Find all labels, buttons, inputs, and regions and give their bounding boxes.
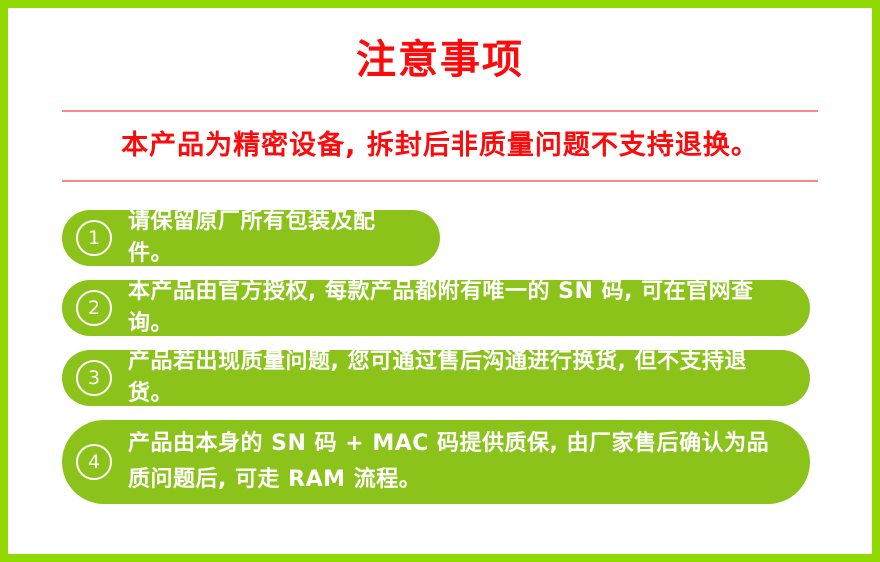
notice-text-3: 产品若出现质量问题, 您可通过售后沟通进行换货, 但不支持退货。 bbox=[128, 346, 788, 410]
notice-item-4: 4 产品由本身的 SN 码 + MAC 码提供质保, 由厂家售后确认为品 质问题… bbox=[62, 420, 810, 504]
notice-number-badge-2: 2 bbox=[76, 290, 112, 326]
divider-bottom bbox=[62, 180, 818, 182]
notice-poster: 注意事项 本产品为精密设备, 拆封后非质量问题不支持退换。 1 请保留原厂所有包… bbox=[0, 0, 880, 562]
poster-inner: 注意事项 本产品为精密设备, 拆封后非质量问题不支持退换。 1 请保留原厂所有包… bbox=[8, 8, 872, 554]
notice-list: 1 请保留原厂所有包装及配件。 2 本产品由官方授权, 每款产品都附有唯一的 S… bbox=[62, 210, 822, 518]
page-title: 注意事项 bbox=[8, 38, 872, 82]
divider-top bbox=[62, 110, 818, 112]
notice-number-badge-3: 3 bbox=[76, 360, 112, 396]
page-subtitle: 本产品为精密设备, 拆封后非质量问题不支持退换。 bbox=[8, 126, 872, 166]
notice-number-badge-4: 4 bbox=[76, 444, 112, 480]
notice-text-4: 产品由本身的 SN 码 + MAC 码提供质保, 由厂家售后确认为品 质问题后,… bbox=[128, 426, 769, 498]
notice-number-badge-1: 1 bbox=[76, 220, 112, 256]
notice-text-1: 请保留原厂所有包装及配件。 bbox=[128, 206, 418, 270]
notice-text-2: 本产品由官方授权, 每款产品都附有唯一的 SN 码, 可在官网查询。 bbox=[128, 276, 788, 340]
notice-item-2: 2 本产品由官方授权, 每款产品都附有唯一的 SN 码, 可在官网查询。 bbox=[62, 280, 810, 336]
notice-item-3: 3 产品若出现质量问题, 您可通过售后沟通进行换货, 但不支持退货。 bbox=[62, 350, 810, 406]
notice-item-1: 1 请保留原厂所有包装及配件。 bbox=[62, 210, 440, 266]
